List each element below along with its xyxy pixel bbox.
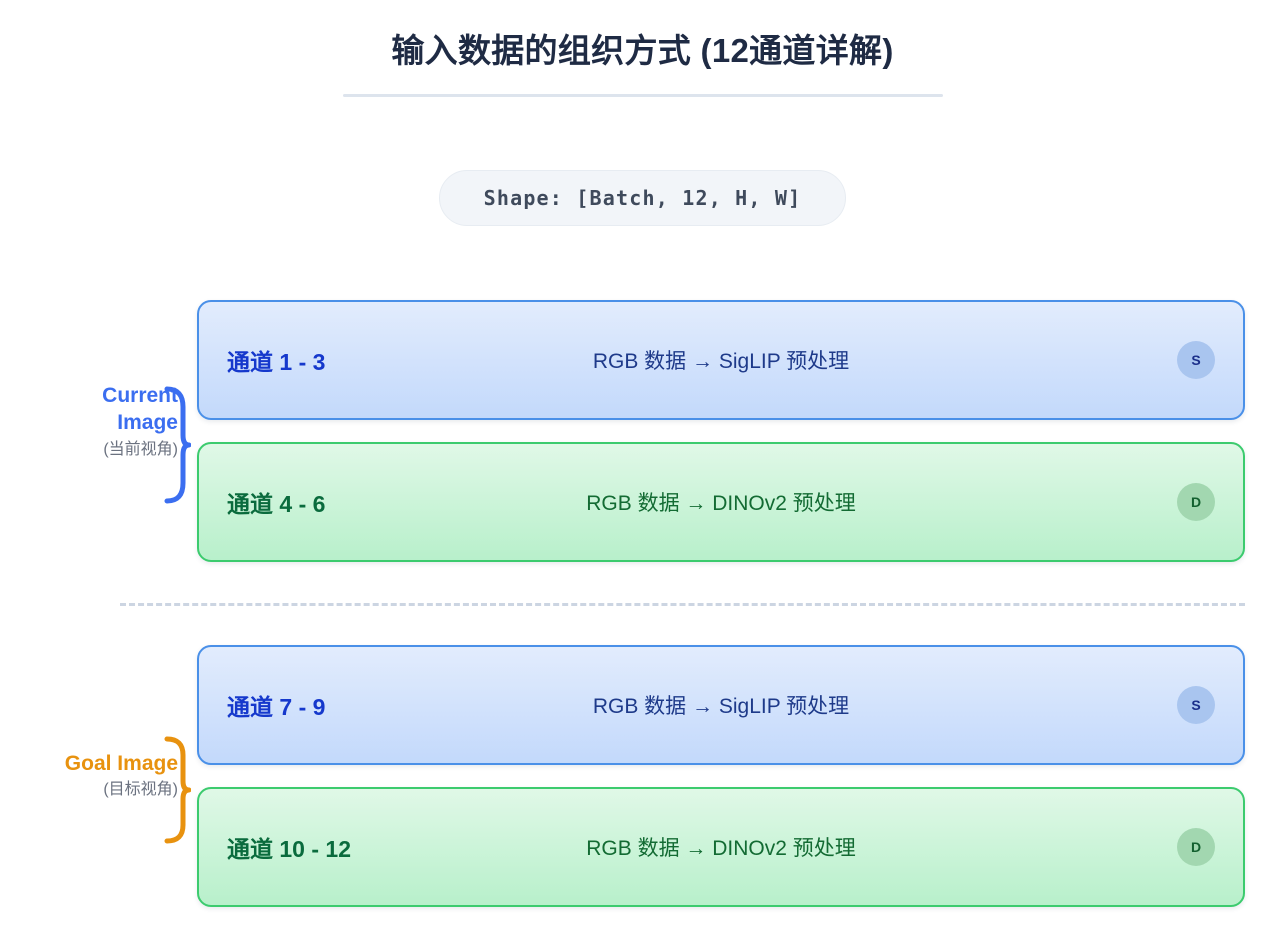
brace-current-icon [163,385,191,505]
encoder-badge-siglip: S [1177,341,1215,379]
encoder-badge-dinov2: D [1177,483,1215,521]
channel-description: RGB 数据 → SigLIP 预处理 [199,690,1243,720]
encoder-badge-dinov2: D [1177,828,1215,866]
diagram-page: 输入数据的组织方式 (12通道详解) Shape: [Batch, 12, H,… [0,0,1285,943]
side-label-goal-name: Goal Image [0,750,178,777]
shape-pill-container: Shape: [Batch, 12, H, W] [0,170,1285,226]
channel-row[interactable]: 通道 7 - 9 RGB 数据 → SigLIP 预处理 S [197,645,1245,765]
side-label-goal-image: Goal Image (目标视角) [0,750,178,801]
channel-row[interactable]: 通道 1 - 3 RGB 数据 → SigLIP 预处理 S [197,300,1245,420]
title-divider [343,94,943,97]
tensor-shape-badge: Shape: [Batch, 12, H, W] [439,170,847,226]
page-title: 输入数据的组织方式 (12通道详解) [0,30,1285,71]
brace-goal-icon [163,735,191,845]
channel-description: RGB 数据 → DINOv2 预处理 [199,832,1243,862]
side-sub-current: (当前视角) [28,440,178,461]
channel-row[interactable]: 通道 4 - 6 RGB 数据 → DINOv2 预处理 D [197,442,1245,562]
side-label-current-image: Current Image (当前视角) [28,382,178,460]
side-label-goal-line1: Goal Image [65,752,178,775]
group-goal-rows: 通道 7 - 9 RGB 数据 → SigLIP 预处理 S 通道 10 - 1… [197,645,1245,905]
channel-description: RGB 数据 → DINOv2 预处理 [199,487,1243,517]
header: 输入数据的组织方式 (12通道详解) [0,0,1285,97]
encoder-badge-siglip: S [1177,686,1215,724]
side-sub-goal: (目标视角) [0,780,178,801]
section-divider [120,603,1245,606]
group-current-rows: 通道 1 - 3 RGB 数据 → SigLIP 预处理 S 通道 4 - 6 … [197,300,1245,560]
channel-row[interactable]: 通道 10 - 12 RGB 数据 → DINOv2 预处理 D [197,787,1245,907]
channel-description: RGB 数据 → SigLIP 预处理 [199,345,1243,375]
side-label-current-name: Current Image [28,382,178,437]
